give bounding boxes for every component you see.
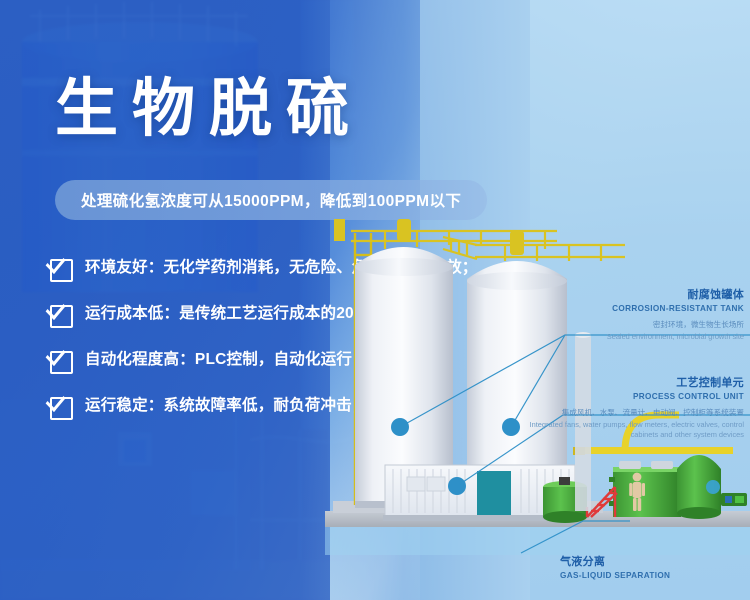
callout-desc-en: Integrated fans, water pumps, flow meter… bbox=[524, 420, 744, 440]
green-vessel-large bbox=[677, 455, 721, 519]
callout-title-en: CORROSION-RESISTANT TANK bbox=[559, 304, 744, 313]
subtitle-badge: 处理硫化氢浓度可从15000PPM，降低到100PPM以下 bbox=[55, 180, 487, 220]
callout-desc-en: Sealed environment, microbial growth sit… bbox=[559, 332, 744, 342]
checkbox-checked-icon bbox=[50, 259, 73, 282]
checkbox-checked-icon bbox=[50, 305, 73, 328]
tank-vent-right bbox=[510, 231, 524, 255]
callout-title-cn: 气液分离 bbox=[560, 553, 680, 569]
callout-gas-liquid-separation: 气液分离 GAS-LIQUID SEPARATION bbox=[560, 553, 680, 580]
callout-desc-cn: 密封环境，微生物生长场所 bbox=[559, 320, 744, 331]
callout-title-cn: 工艺控制单元 bbox=[524, 374, 744, 390]
callout-desc-cn: 集成风机、水泵、流量计、电动阀、控制柜等系统装置 bbox=[524, 408, 744, 419]
callout-process-control-unit: 工艺控制单元 PROCESS CONTROL UNIT 集成风机、水泵、流量计、… bbox=[524, 374, 744, 440]
tank-vent-left bbox=[397, 219, 411, 241]
container-door bbox=[477, 471, 511, 515]
callout-title-en: PROCESS CONTROL UNIT bbox=[524, 392, 744, 401]
banner-root: 生物脱硫 处理硫化氢浓度可从15000PPM，降低到100PPM以下 环境友好：… bbox=[0, 0, 750, 600]
callout-corrosion-resistant-tank: 耐腐蚀罐体 CORROSION-RESISTANT TANK 密封环境，微生物生… bbox=[559, 286, 744, 342]
callout-title-en: GAS-LIQUID SEPARATION bbox=[560, 571, 680, 580]
checkbox-checked-icon bbox=[50, 351, 73, 374]
checkbox-checked-icon bbox=[50, 397, 73, 420]
callout-title-cn: 耐腐蚀罐体 bbox=[559, 286, 744, 302]
page-title: 生物脱硫 bbox=[55, 78, 363, 141]
pump-skid bbox=[721, 493, 747, 506]
